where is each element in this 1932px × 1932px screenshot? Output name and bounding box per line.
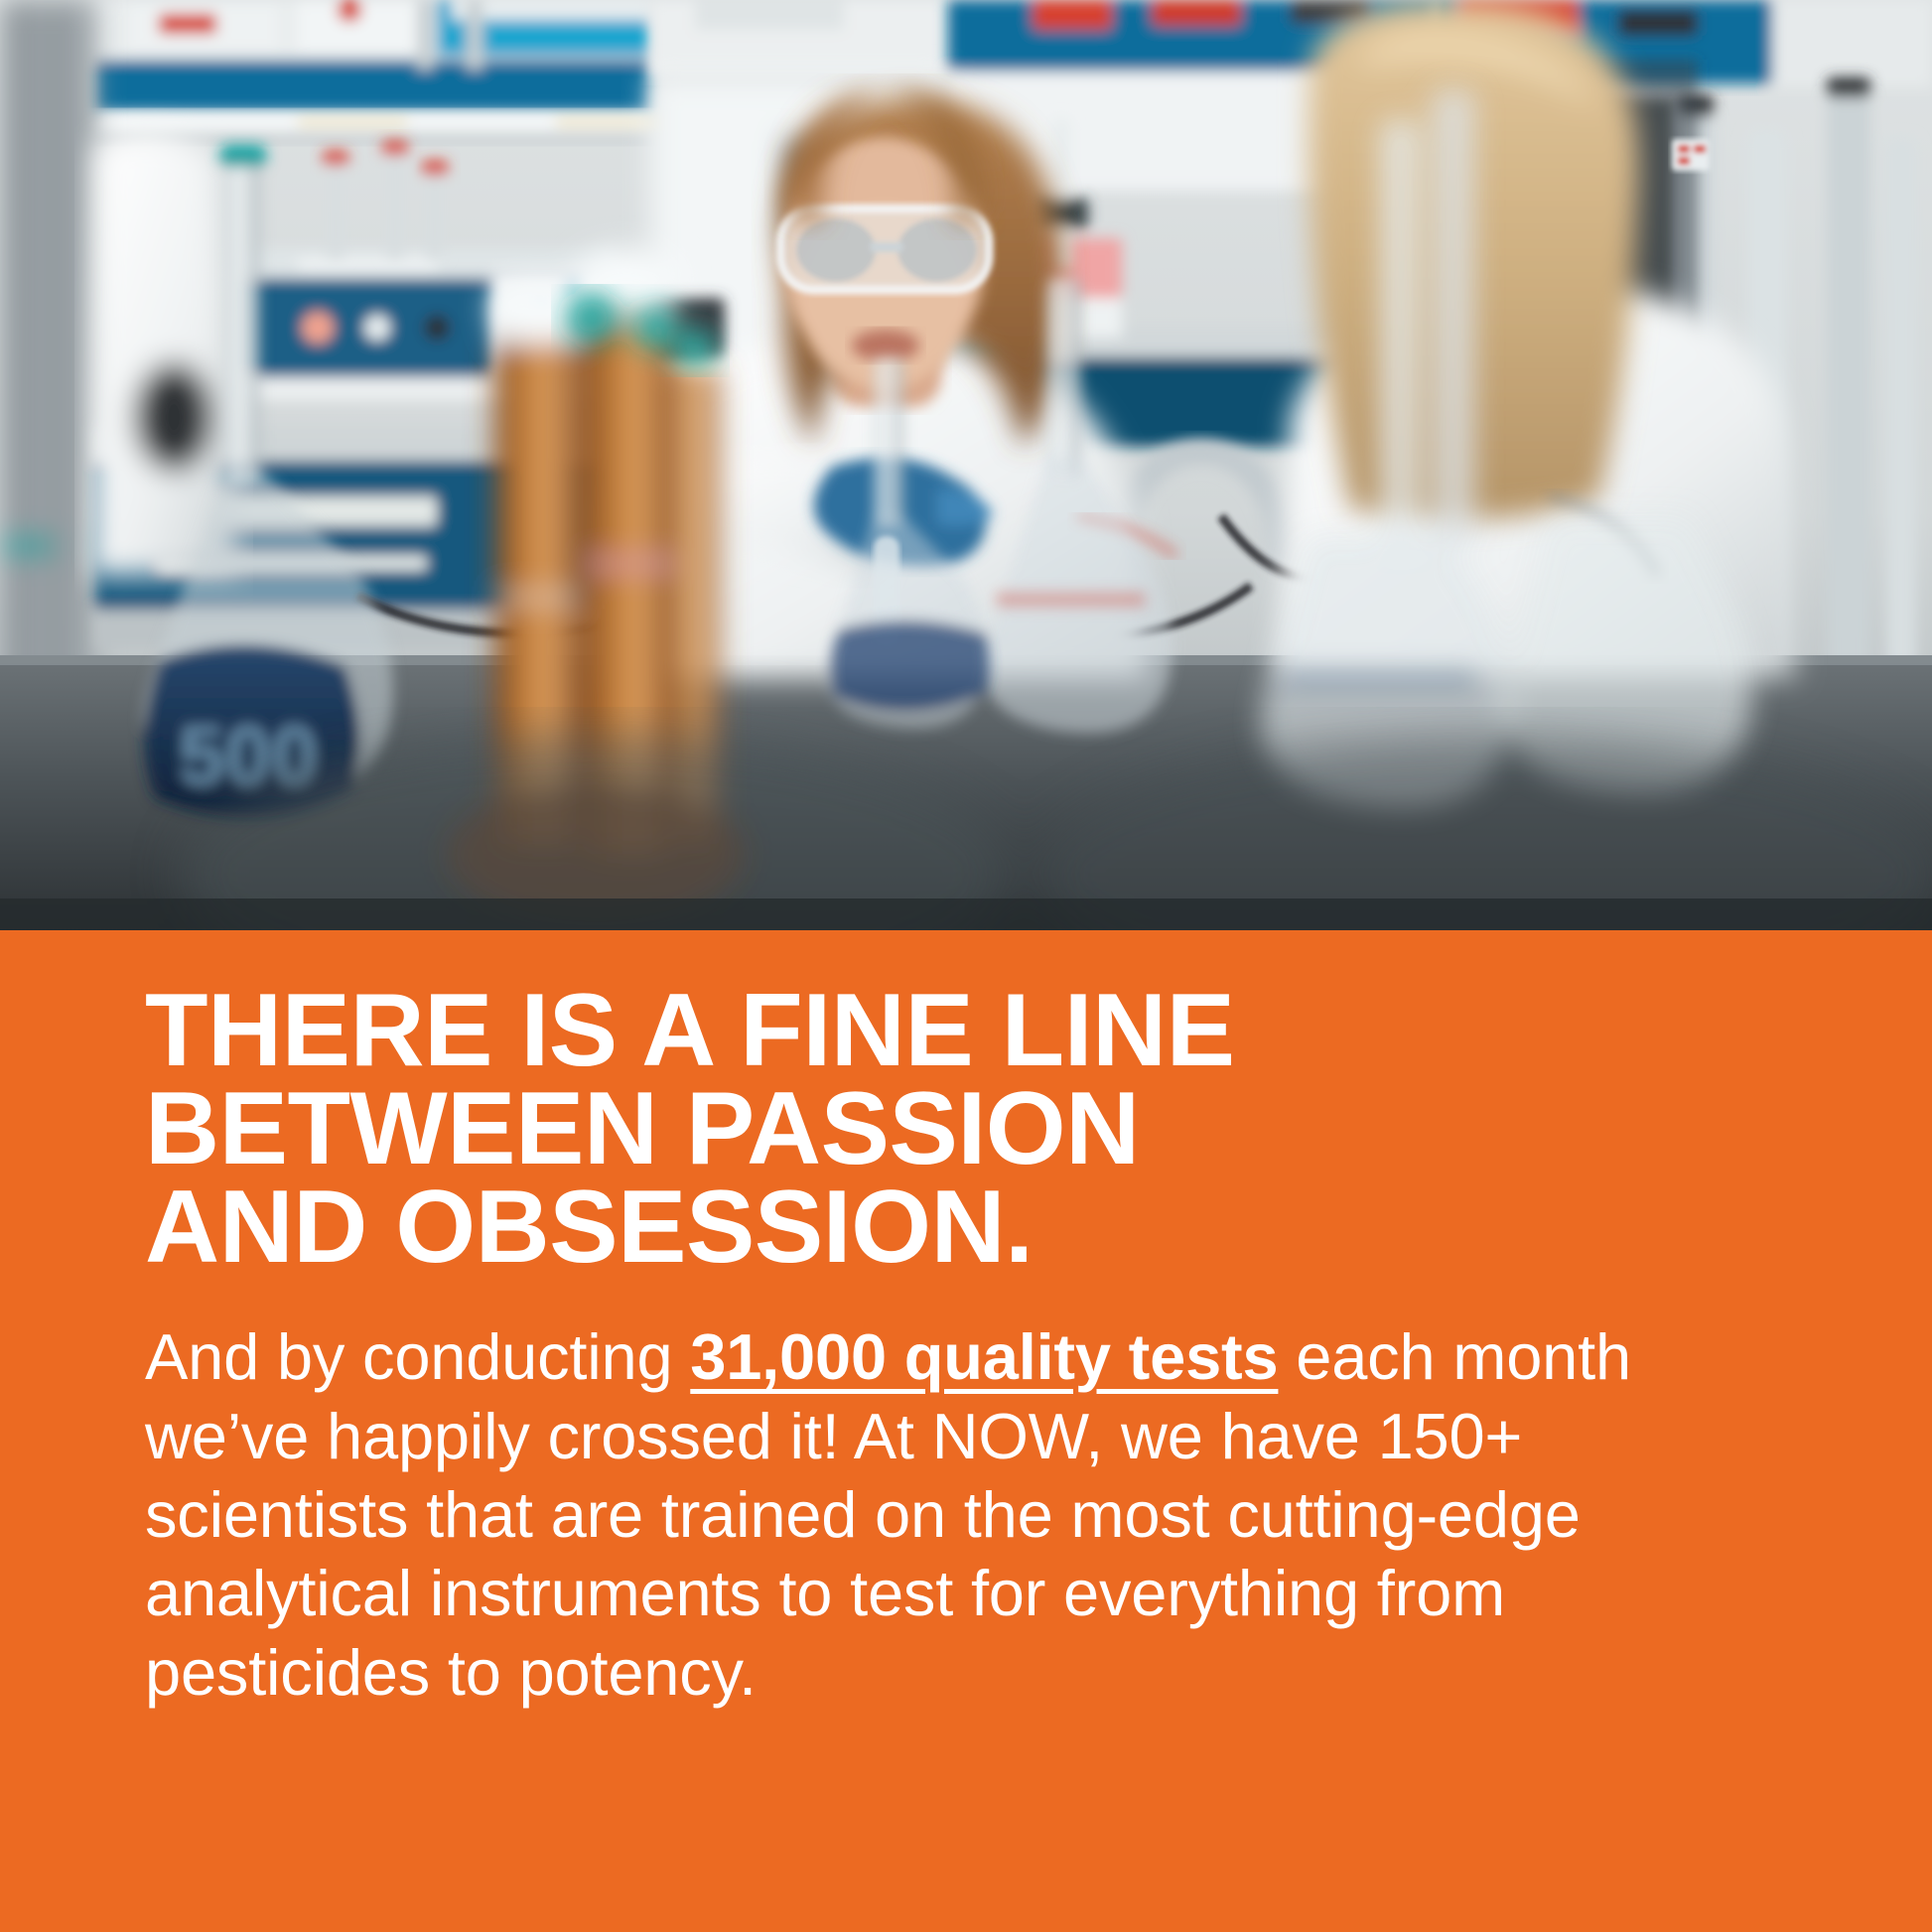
quality-tests-highlight: 31,000 quality tests: [690, 1320, 1278, 1393]
promo-card: 500: [0, 0, 1932, 1932]
laboratory-photo: 500: [0, 0, 1932, 930]
orange-copy-panel: THERE IS A FINE LINE BETWEEN PASSION AND…: [0, 930, 1932, 1932]
headline: THERE IS A FINE LINE BETWEEN PASSION AND…: [145, 982, 1813, 1276]
copy-block: THERE IS A FINE LINE BETWEEN PASSION AND…: [145, 982, 1813, 1712]
body-copy: And by conducting 31,000 quality tests e…: [145, 1317, 1773, 1711]
body-copy-part-1: And by conducting: [145, 1320, 690, 1393]
